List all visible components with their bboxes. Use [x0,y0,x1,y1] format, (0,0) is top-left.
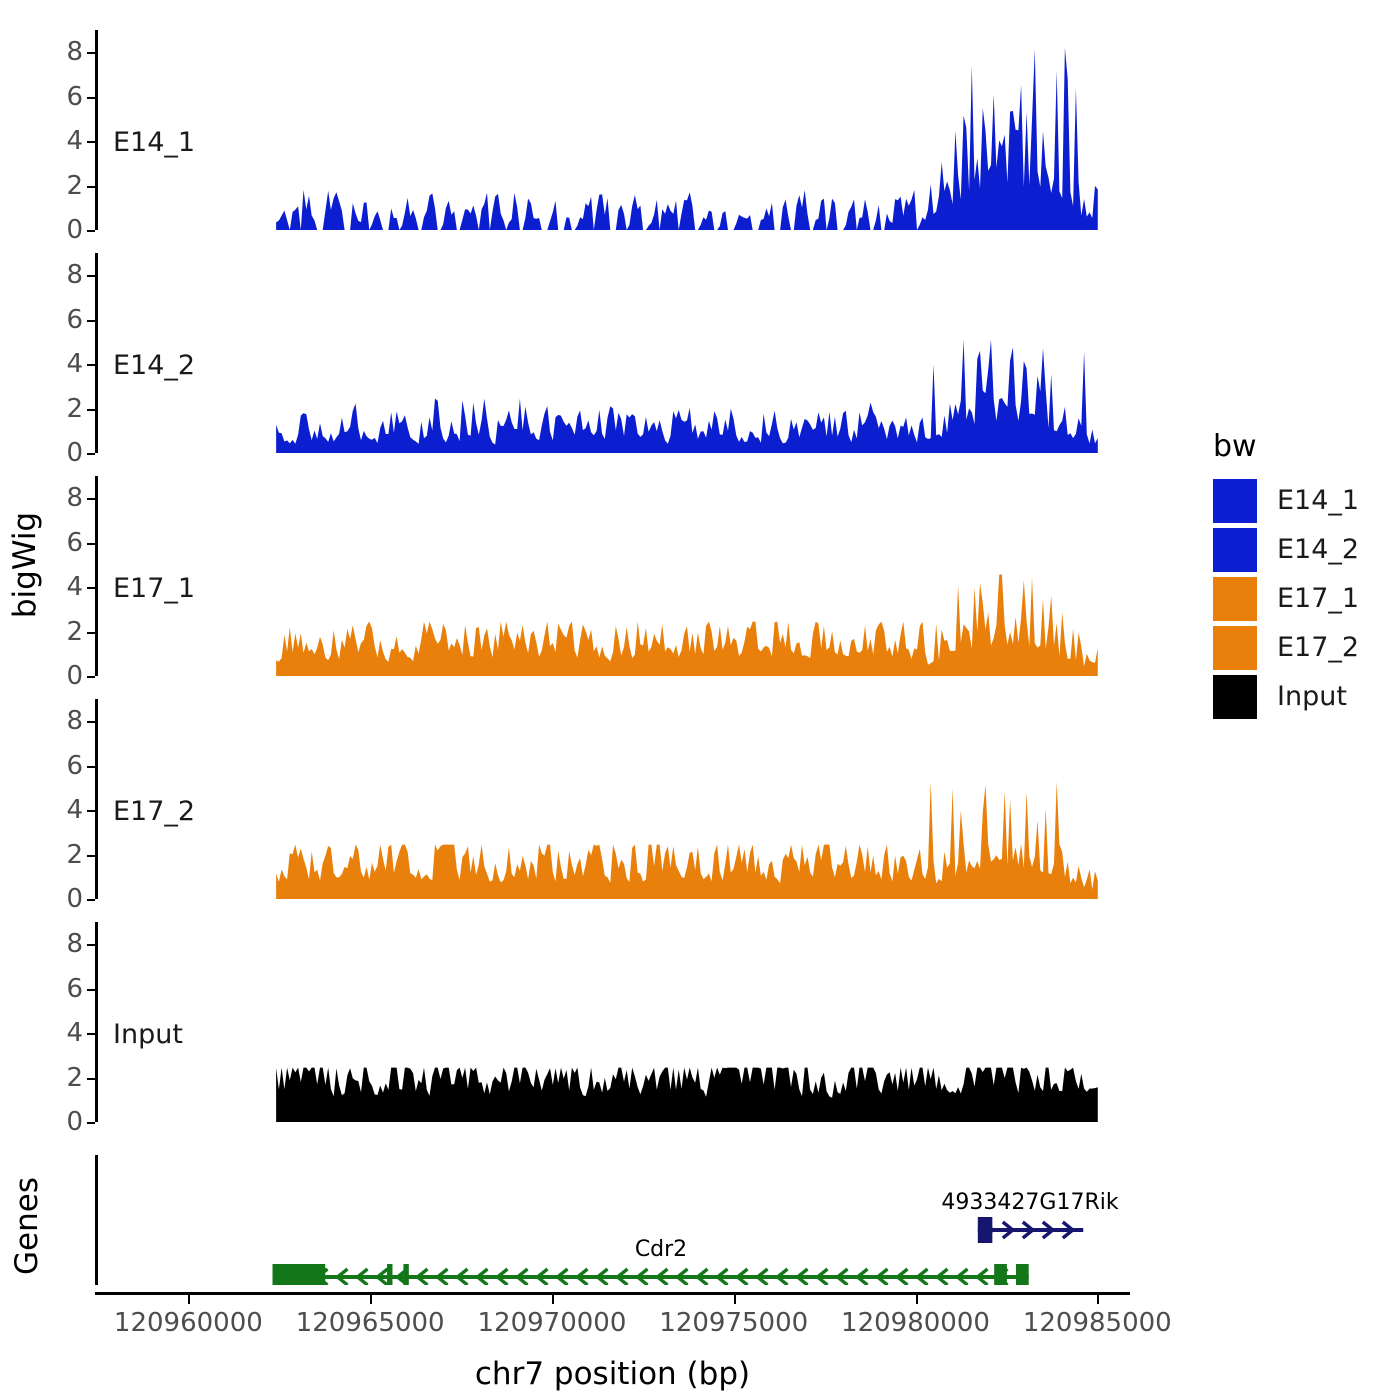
signal-area-e17_1 [98,476,1131,676]
y-tick [87,899,95,901]
strand-arrow [417,1269,427,1285]
strand-arrow [277,1269,287,1285]
strand-arrow [577,1269,587,1285]
strand-arrow [917,1269,927,1285]
gene-exon [994,1264,1007,1285]
gene-models [98,1155,1131,1285]
x-tick [1097,1295,1099,1304]
x-axis: 1209600001209650001209700001209750001209… [95,1292,1130,1352]
strand-arrow [297,1269,307,1285]
gene-label-4933427g17rik: 4933427G17Rik [941,1190,1118,1215]
y-tick [87,632,95,634]
legend-swatch [1213,528,1257,572]
strand-arrow [877,1269,887,1285]
strand-arrow [677,1269,687,1285]
legend-item-e17_1[interactable]: E17_1 [1213,574,1393,623]
signal-area-input [98,922,1131,1122]
y-tick-label: 6 [66,753,83,779]
legend-label: Input [1277,681,1347,712]
x-tick [188,1295,190,1304]
x-tick-label: 120975000 [659,1308,808,1338]
y-tick [87,409,95,411]
y-tick [87,52,95,54]
x-tick [552,1295,554,1304]
x-tick-label: 120980000 [841,1308,990,1338]
y-tick [87,766,95,768]
y-tick-label: 4 [66,128,83,154]
legend-item-e17_2[interactable]: E17_2 [1213,623,1393,672]
strand-arrow [817,1269,827,1285]
strand-arrow [1022,1222,1032,1238]
strand-arrow [997,1269,1007,1285]
strand-arrow [717,1269,727,1285]
legend-rows: E14_1E14_2E17_1E17_2Input [1213,476,1393,721]
signal-panel-e17_2: 02468E17_2 [95,699,1130,899]
y-tick [87,1078,95,1080]
strand-arrow [517,1269,527,1285]
y-tick-label: 0 [66,1109,83,1135]
y-tick-label: 6 [66,976,83,1002]
strand-arrow [757,1269,767,1285]
x-axis-line [95,1292,1130,1295]
y-tick [87,721,95,723]
x-tick [916,1295,918,1304]
strand-arrow [777,1269,787,1285]
strand-arrow [317,1269,327,1285]
legend-item-e14_2[interactable]: E14_2 [1213,525,1393,574]
y-tick-label: 2 [66,1065,83,1091]
y-tick [87,320,95,322]
y-axis-title-genes: Genes [7,1161,47,1291]
signal-panel-e17_1: 02468E17_1 [95,476,1130,676]
gene-exon [272,1264,325,1285]
y-tick [87,855,95,857]
strand-arrow [557,1269,567,1285]
strand-arrow [397,1269,407,1285]
y-tick-label: 2 [66,842,83,868]
strand-arrow [1042,1222,1052,1238]
strand-arrow [837,1269,847,1285]
strand-arrow [497,1269,507,1285]
legend: bw E14_1E14_2E17_1E17_2Input [1213,432,1393,721]
strand-arrow [377,1269,387,1285]
strand-arrow [737,1269,747,1285]
legend-item-e14_1[interactable]: E14_1 [1213,476,1393,525]
gene-exon [1015,1264,1028,1285]
y-tick-label: 0 [66,440,83,466]
y-tick [87,810,95,812]
legend-label: E17_2 [1277,632,1359,663]
y-tick-label: 6 [66,530,83,556]
x-tick-label: 120970000 [477,1308,626,1338]
strand-arrow [797,1269,807,1285]
x-axis-label: chr7 position (bp) [95,1356,1130,1392]
signal-panel-e14_2: 02468E14_2 [95,253,1130,453]
strand-arrow [1002,1222,1012,1238]
signal-area-e17_2 [98,699,1131,899]
y-tick [87,275,95,277]
signal-area-e14_2 [98,253,1131,453]
strand-arrow [637,1269,647,1285]
strand-arrow [337,1269,347,1285]
y-tick [87,676,95,678]
strand-arrow [1017,1269,1027,1285]
y-tick-label: 8 [66,708,83,734]
gene-intron-line [977,1228,1082,1232]
strand-arrow [977,1269,987,1285]
legend-label: E14_1 [1277,485,1359,516]
y-tick-label: 8 [66,262,83,288]
y-tick [87,498,95,500]
strand-arrow [857,1269,867,1285]
gene-intron-line [272,1275,1028,1279]
y-axis-title-bigwig: bigWig [5,480,45,650]
y-tick [87,944,95,946]
y-tick [87,97,95,99]
y-tick [87,543,95,545]
legend-label: E17_1 [1277,583,1359,614]
y-tick-label: 8 [66,485,83,511]
legend-swatch [1213,675,1257,719]
y-tick-label: 0 [66,663,83,689]
strand-arrow [982,1222,992,1238]
y-tick-label: 0 [66,217,83,243]
gene-label-cdr2: Cdr2 [635,1237,687,1262]
strand-arrow [897,1269,907,1285]
y-tick-label: 4 [66,351,83,377]
strand-arrow [937,1269,947,1285]
strand-arrow [437,1269,447,1285]
x-tick-label: 120960000 [114,1308,263,1338]
y-tick [87,186,95,188]
x-tick [734,1295,736,1304]
y-tick-label: 2 [66,619,83,645]
gene-exon [403,1264,408,1285]
legend-item-input[interactable]: Input [1213,672,1393,721]
gene-exon [387,1264,392,1285]
strand-arrow [657,1269,667,1285]
genome-browser-figure: bigWig Genes 02468E14_102468E14_202468E1… [0,0,1400,1400]
legend-title: bw [1213,432,1393,462]
y-tick-label: 2 [66,396,83,422]
strand-arrow [1062,1222,1072,1238]
legend-label: E14_2 [1277,534,1359,565]
y-tick [87,1122,95,1124]
y-tick [87,1033,95,1035]
y-tick [87,453,95,455]
signal-area-e14_1 [98,30,1131,230]
gene-panel-spine [95,1155,98,1285]
legend-swatch [1213,479,1257,523]
signal-panel-input: 02468Input [95,922,1130,1122]
strand-arrow [697,1269,707,1285]
gene-track-panel: 4933427G17RikCdr2 [95,1155,1130,1285]
strand-arrow [357,1269,367,1285]
y-tick [87,989,95,991]
x-tick-label: 120985000 [1023,1308,1172,1338]
y-tick-label: 2 [66,173,83,199]
y-tick-label: 4 [66,797,83,823]
strand-arrow [477,1269,487,1285]
gene-exon [977,1217,992,1243]
y-tick-label: 6 [66,307,83,333]
y-tick-label: 8 [66,931,83,957]
y-tick [87,230,95,232]
y-tick [87,364,95,366]
y-tick-label: 8 [66,39,83,65]
y-tick [87,141,95,143]
strand-arrow [957,1269,967,1285]
gene-track-clip: 4933427G17RikCdr2 [0,1155,1130,1285]
strand-arrow [597,1269,607,1285]
signal-panel-e14_1: 02468E14_1 [95,30,1130,230]
legend-swatch [1213,577,1257,621]
strand-arrow [617,1269,627,1285]
strand-arrow [457,1269,467,1285]
x-tick-label: 120965000 [296,1308,445,1338]
y-tick-label: 4 [66,1020,83,1046]
legend-swatch [1213,626,1257,670]
x-tick [370,1295,372,1304]
y-tick-label: 0 [66,886,83,912]
y-tick-label: 4 [66,574,83,600]
strand-arrow [537,1269,547,1285]
y-tick-label: 6 [66,84,83,110]
y-tick [87,587,95,589]
